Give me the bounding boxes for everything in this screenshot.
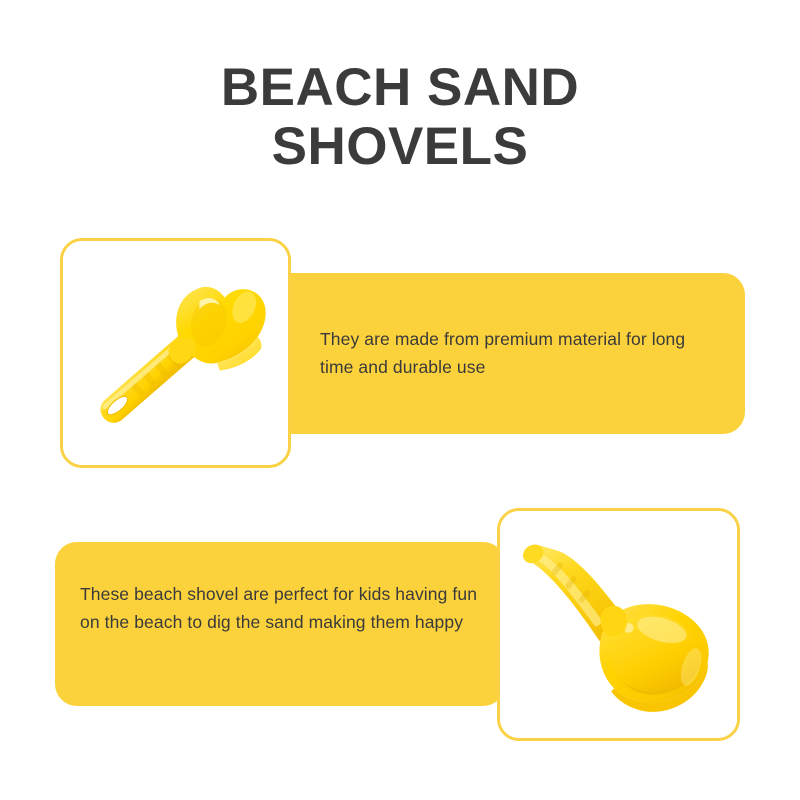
feature-image-frame-1 (60, 238, 291, 468)
feature-text-1: They are made from premium material for … (320, 325, 720, 382)
page-title: BEACH SAND SHOVELS (100, 58, 700, 177)
infographic-canvas: BEACH SAND SHOVELS They are made from pr… (0, 0, 800, 800)
sand-shovel-scoop-image (500, 511, 737, 738)
sand-shovel-flat-blade-image (63, 241, 288, 465)
feature-image-frame-2 (497, 508, 740, 741)
feature-text-2: These beach shovel are perfect for kids … (80, 580, 480, 637)
